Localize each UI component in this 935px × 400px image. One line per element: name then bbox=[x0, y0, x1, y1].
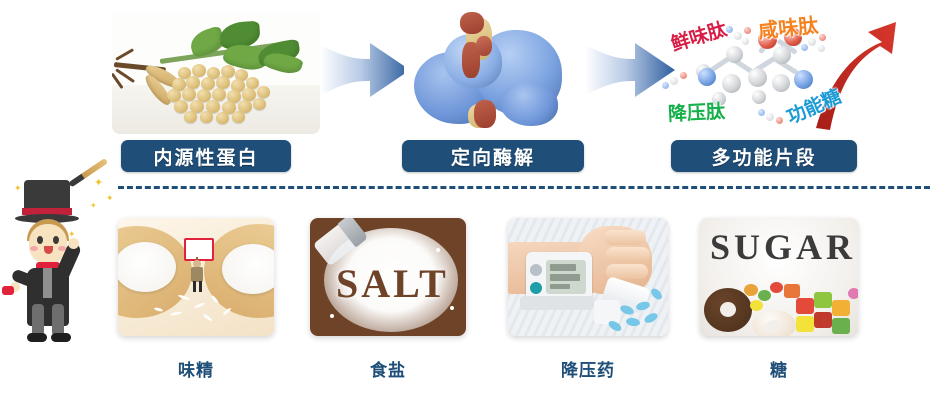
jellybean bbox=[758, 290, 771, 301]
soy-bean bbox=[184, 111, 197, 123]
cuff-strap bbox=[520, 296, 594, 310]
soy-root bbox=[115, 48, 134, 61]
carbon-atom bbox=[818, 45, 825, 52]
product-caption-salt: 食盐 bbox=[310, 356, 466, 381]
product-caption-sugar: 糖 bbox=[700, 356, 858, 381]
donut-hole bbox=[766, 320, 782, 332]
magician-leg bbox=[32, 304, 44, 336]
jellybean bbox=[848, 288, 858, 299]
product-image-sugar: SUGAR bbox=[700, 218, 858, 336]
sugar-word-text: SUGAR bbox=[710, 226, 856, 268]
donut-hole bbox=[720, 302, 736, 317]
carbon-atom bbox=[748, 68, 767, 87]
process-step-2-label[interactable]: 定向酶解 bbox=[402, 140, 584, 172]
soy-bean bbox=[216, 112, 229, 124]
product-image-salt: SALT bbox=[310, 218, 466, 336]
gumdrop bbox=[814, 312, 832, 328]
process-step-1-label[interactable]: 内源性蛋白 bbox=[121, 140, 291, 172]
magician-shoe bbox=[27, 333, 47, 342]
oxygen-atom bbox=[744, 27, 751, 34]
soy-bean bbox=[192, 64, 206, 77]
satellite-molecule bbox=[726, 24, 756, 50]
msg-grain bbox=[194, 302, 205, 309]
sparkle-icon: ✦ bbox=[14, 184, 22, 193]
satellite-molecule bbox=[758, 106, 786, 130]
jellybean bbox=[750, 300, 763, 311]
monitor-button[interactable] bbox=[530, 264, 542, 276]
finger bbox=[604, 230, 646, 245]
magician-shoe bbox=[51, 333, 71, 342]
msg-grain bbox=[170, 311, 182, 316]
gumdrop bbox=[784, 284, 800, 298]
oxygen-atom bbox=[680, 72, 687, 79]
product-caption-msg: 味精 bbox=[118, 356, 274, 381]
carbon-atom bbox=[722, 74, 741, 93]
soy-bean bbox=[232, 111, 245, 123]
process-step-3-label[interactable]: 多功能片段 bbox=[671, 140, 857, 172]
soy-bean bbox=[257, 86, 270, 98]
nitrogen-atom bbox=[794, 70, 813, 89]
sign-board bbox=[184, 238, 214, 261]
nitrogen-atom bbox=[801, 44, 808, 51]
lcd-line bbox=[550, 274, 580, 281]
lcd-line bbox=[550, 284, 570, 289]
molecule-image: 鲜味肽 咸味肽 降压肽 功能糖 bbox=[660, 8, 900, 136]
monitor-button[interactable] bbox=[530, 282, 542, 294]
magician-shirt bbox=[43, 268, 52, 298]
soy-bean bbox=[253, 98, 266, 110]
soybean-image bbox=[112, 12, 320, 134]
gumdrop bbox=[832, 318, 850, 334]
figure-leg bbox=[199, 281, 202, 292]
protein-ligand-red bbox=[474, 100, 496, 128]
arrow-right-1 bbox=[318, 35, 414, 105]
peptide-label-antihypertensive: 降压肽 bbox=[667, 97, 725, 127]
bottle-cap bbox=[594, 300, 620, 324]
product-image-blood-pressure bbox=[508, 218, 668, 336]
product-caption-antihypertensive: 降压药 bbox=[508, 356, 668, 381]
nitrogen-atom bbox=[698, 68, 716, 86]
salt-speck bbox=[330, 314, 334, 318]
finger bbox=[606, 247, 650, 262]
gumdrop bbox=[814, 292, 832, 308]
infographic-canvas: 鲜味肽 咸味肽 降压肽 功能糖 内源性蛋白 定向酶解 多功能片段 ✦ ✦ ✦ ✦… bbox=[0, 0, 935, 400]
protein-ligand-red bbox=[476, 36, 492, 56]
salt-word-text: SALT bbox=[336, 260, 449, 307]
salt-speck bbox=[436, 248, 440, 252]
msg-grain bbox=[202, 313, 213, 322]
carbon-atom bbox=[773, 46, 791, 64]
protein-structure-image bbox=[404, 6, 580, 134]
sparkle-icon: ✦ bbox=[94, 178, 103, 189]
carbon-atom bbox=[766, 113, 774, 121]
soy-bean bbox=[200, 111, 213, 123]
satellite-molecule bbox=[662, 70, 690, 94]
soy-bean bbox=[182, 88, 196, 101]
carbon-atom bbox=[734, 32, 742, 40]
product-image-msg bbox=[118, 218, 274, 336]
lcd-line bbox=[550, 264, 576, 271]
gumdrop bbox=[832, 300, 850, 316]
jellybean bbox=[770, 282, 783, 293]
red-cloth bbox=[2, 286, 14, 295]
carbon-atom bbox=[670, 77, 678, 85]
soy-bean bbox=[212, 88, 226, 101]
protein-lobe bbox=[500, 82, 558, 126]
carbon-atom bbox=[808, 38, 816, 46]
magician-leg bbox=[52, 304, 64, 336]
section-divider bbox=[118, 186, 930, 189]
gumdrop bbox=[796, 298, 814, 314]
carbon-atom bbox=[772, 74, 790, 92]
peptide-label-umami: 鲜味肽 bbox=[667, 14, 729, 56]
magician-character: ✦ ✦ ✦ ✦ ✦ bbox=[2, 176, 114, 348]
magician-cheek bbox=[30, 246, 38, 251]
jellybean bbox=[744, 284, 758, 296]
protein-ligand-red bbox=[460, 12, 484, 34]
nitrogen-atom bbox=[758, 109, 765, 116]
magician-eye bbox=[37, 236, 43, 244]
carbon-atom bbox=[742, 38, 749, 45]
sparkle-icon: ✦ bbox=[106, 194, 114, 203]
magician-hand bbox=[68, 238, 79, 249]
oxygen-atom bbox=[776, 117, 783, 124]
gumdrop bbox=[796, 316, 814, 332]
figure-leg bbox=[193, 281, 196, 292]
sparkle-icon: ✦ bbox=[90, 202, 97, 210]
figure-body bbox=[191, 267, 203, 282]
magician-eye bbox=[53, 236, 59, 244]
oxygen-atom bbox=[819, 34, 826, 41]
mini-figurine bbox=[184, 238, 210, 292]
nitrogen-atom bbox=[662, 82, 669, 89]
salt-speck bbox=[450, 306, 454, 310]
carbon-atom bbox=[752, 90, 766, 104]
